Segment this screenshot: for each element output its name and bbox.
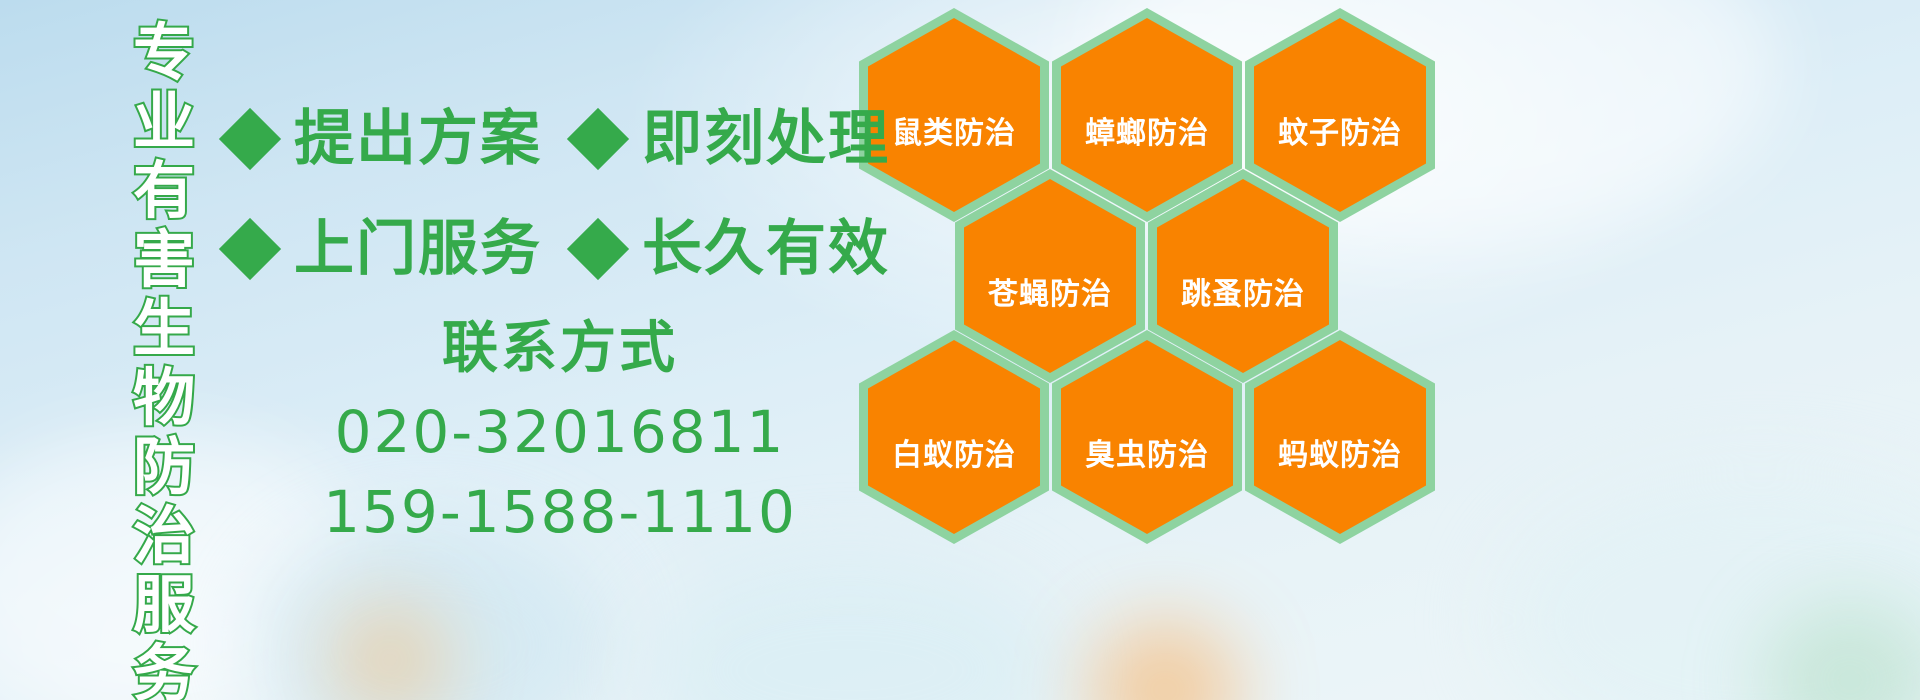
feature-item-long-lasting-effect: 长久有效: [576, 219, 890, 279]
vertical-headline-char: 防: [133, 432, 195, 501]
vertical-headline-char: 生: [133, 294, 195, 363]
background-blur-blob: [330, 600, 450, 700]
vertical-headline-char: 业: [133, 87, 195, 156]
hex-cell-label: 蚂蚁防治: [1278, 430, 1402, 544]
vertical-headline-char: 治: [133, 501, 195, 570]
diamond-icon: [219, 108, 281, 170]
feature-list: 提出方案 即刻处理 上门服务 长久有效: [228, 84, 890, 304]
service-honeycomb: 鼠类防治 蟑螂防治 蚊子防治 苍蝇防治 跳蚤防治 白蚁防治: [855, 0, 1475, 560]
vertical-headline-char: 服: [133, 570, 195, 639]
background-blur-blob: [1760, 600, 1920, 700]
diamond-icon: [219, 218, 281, 280]
feature-label: 上门服务: [294, 219, 542, 279]
vertical-headline-char: 务: [133, 639, 195, 700]
hex-cell-label: 蟑螂防治: [1085, 108, 1209, 222]
pest-control-banner: 专 业 有 害 生 物 防 治 服 务 提出方案 即刻处理 上门服务: [0, 0, 1920, 700]
vertical-headline-char: 物: [133, 363, 195, 432]
feature-row: 提出方案 即刻处理: [228, 84, 890, 194]
vertical-headline: 专 业 有 害 生 物 防 治 服 务: [112, 18, 216, 578]
feature-item-door-to-door-service: 上门服务: [228, 219, 542, 279]
vertical-headline-char: 害: [133, 225, 195, 294]
hex-cell-label: 臭虫防治: [1085, 430, 1209, 544]
feature-label: 长久有效: [642, 219, 890, 279]
contact-phone-mobile[interactable]: 159-1588-1110: [300, 472, 820, 552]
diamond-icon: [567, 218, 629, 280]
diamond-icon: [567, 108, 629, 170]
background-blur-blob: [1090, 620, 1240, 700]
hex-cell-label: 鼠类防治: [892, 108, 1016, 222]
hex-cell-label: 跳蚤防治: [1181, 269, 1305, 383]
feature-label: 提出方案: [294, 109, 542, 169]
feature-item-propose-plan: 提出方案: [228, 109, 542, 169]
background-blur-blob: [1500, 470, 1920, 700]
hex-cell-label: 苍蝇防治: [988, 269, 1112, 383]
hex-cell-label: 蚊子防治: [1278, 108, 1402, 222]
feature-row: 上门服务 长久有效: [228, 194, 890, 304]
feature-label: 即刻处理: [642, 109, 890, 169]
background-blur-blob: [640, 560, 1060, 700]
contact-heading: 联系方式: [300, 316, 820, 382]
vertical-headline-char: 有: [133, 156, 195, 225]
hex-cell-label: 白蚁防治: [892, 430, 1016, 544]
contact-phone-landline[interactable]: 020-32016811: [300, 392, 820, 472]
vertical-headline-char: 专: [133, 18, 195, 87]
feature-item-immediate-handling: 即刻处理: [576, 109, 890, 169]
contact-block: 联系方式 020-32016811 159-1588-1110: [300, 316, 820, 552]
